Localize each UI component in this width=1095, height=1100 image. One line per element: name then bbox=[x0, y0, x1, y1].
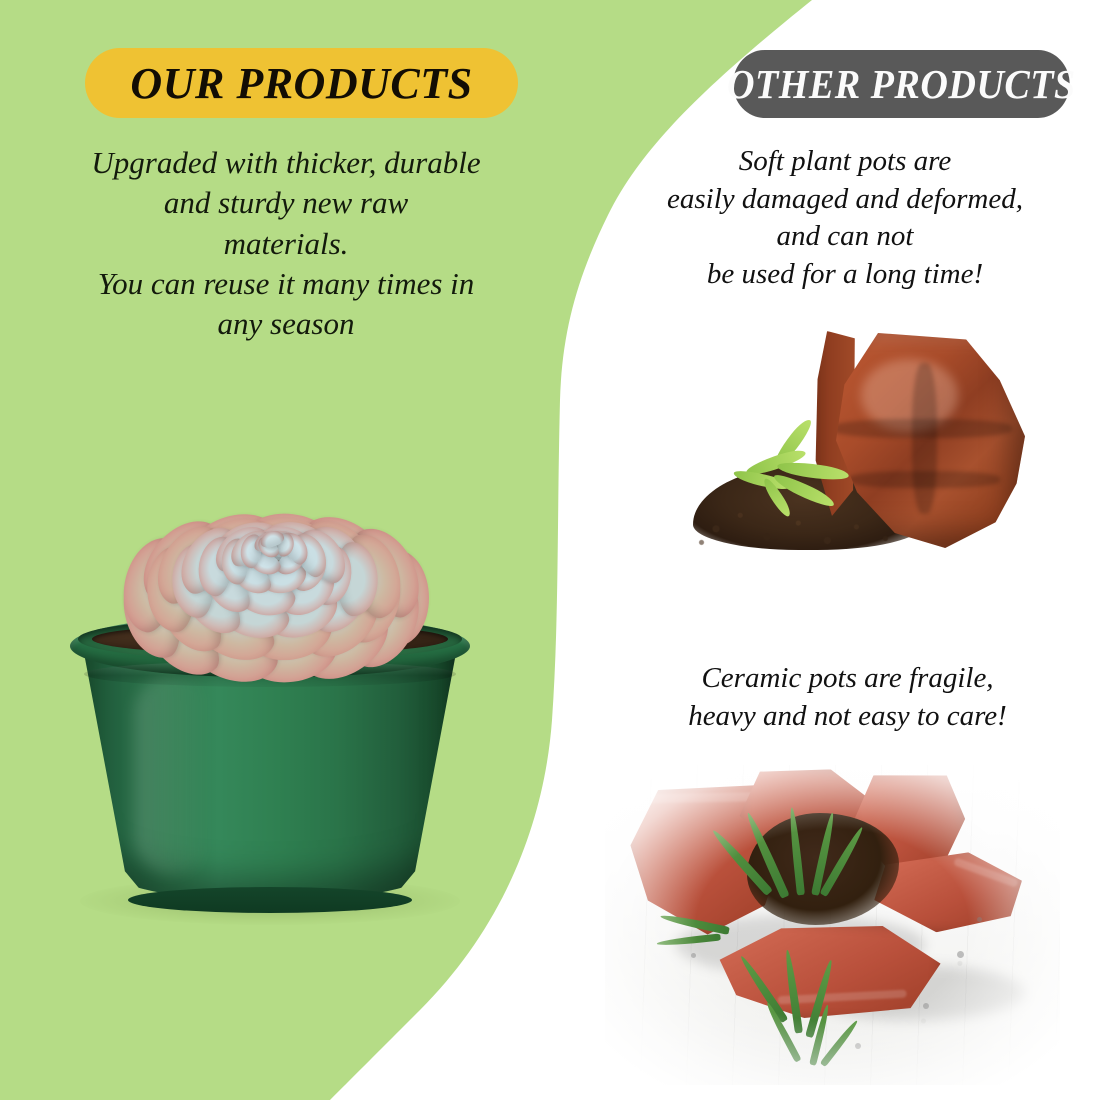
other-product-soft-pot-image bbox=[665, 325, 1065, 610]
seedling bbox=[725, 430, 875, 522]
description-line: any season bbox=[46, 304, 526, 344]
description-line: heavy and not easy to care! bbox=[640, 698, 1055, 736]
crumple-fold bbox=[912, 363, 937, 514]
description-line: be used for a long time! bbox=[630, 256, 1060, 294]
description-line: Soft plant pots are bbox=[630, 143, 1060, 181]
description-line: You can reuse it many times in bbox=[46, 264, 526, 304]
succulent-rosette bbox=[65, 430, 485, 660]
description-line: Upgraded with thicker, durable bbox=[46, 143, 526, 183]
description-line: Ceramic pots are fragile, bbox=[640, 660, 1055, 698]
other-products-badge-label: OTHER PRODUCTS bbox=[727, 60, 1076, 108]
soft-pot-description: Soft plant pots are easily damaged and d… bbox=[630, 143, 1060, 294]
other-products-badge: OTHER PRODUCTS bbox=[733, 50, 1070, 118]
description-line: easily damaged and deformed, bbox=[630, 181, 1060, 219]
infographic-canvas: OUR PRODUCTS OTHER PRODUCTS Upgraded wit… bbox=[0, 0, 1095, 1100]
description-line: and can not bbox=[630, 218, 1060, 256]
description-line: and sturdy new raw bbox=[46, 183, 526, 223]
image-vignette bbox=[603, 763, 1062, 1087]
our-products-badge: OUR PRODUCTS bbox=[85, 48, 518, 118]
our-product-image bbox=[40, 430, 510, 950]
pot-base bbox=[128, 887, 412, 913]
other-product-ceramic-pot-image bbox=[605, 765, 1060, 1085]
ceramic-pot-description: Ceramic pots are fragile, heavy and not … bbox=[640, 660, 1055, 735]
our-products-badge-label: OUR PRODUCTS bbox=[130, 58, 472, 109]
our-products-description: Upgraded with thicker, durable and sturd… bbox=[46, 143, 526, 344]
description-line: materials. bbox=[46, 224, 526, 264]
pot-highlight bbox=[134, 675, 212, 875]
